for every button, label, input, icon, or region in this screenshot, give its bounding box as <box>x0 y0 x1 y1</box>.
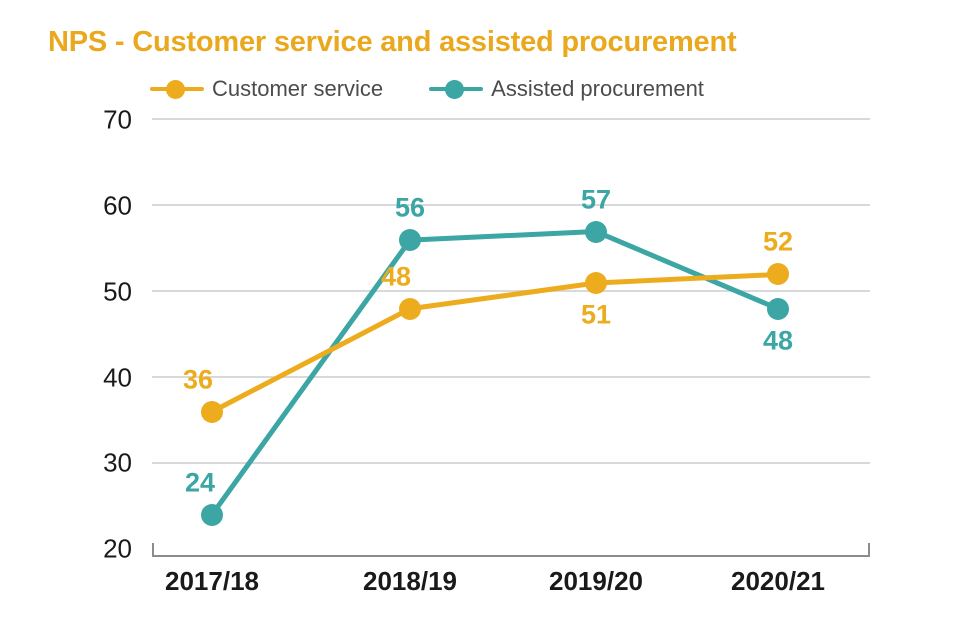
x-tick-label: 2018/19 <box>363 566 457 597</box>
x-axis-tick-labels: 2017/18 2018/19 2019/20 2020/21 <box>0 0 960 640</box>
x-tick-label: 2017/18 <box>165 566 259 597</box>
x-tick-label: 2019/20 <box>549 566 643 597</box>
nps-line-chart: NPS - Customer service and assisted proc… <box>0 0 960 640</box>
x-tick-label: 2020/21 <box>731 566 825 597</box>
